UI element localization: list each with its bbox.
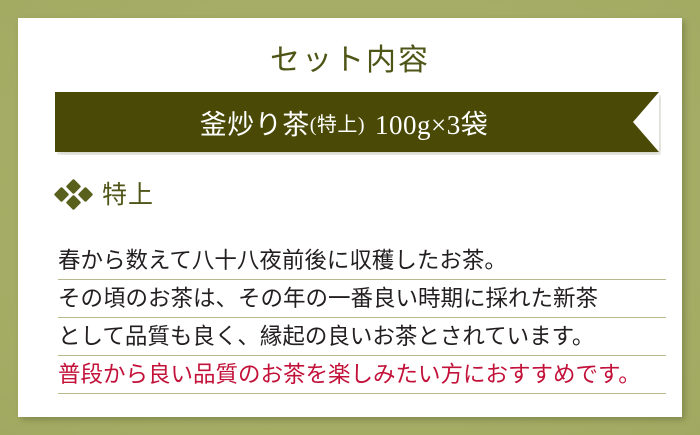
content-card: セット内容 釜炒り茶(特上)100g×3袋 特上 春から数えて八十八夜前後に収穫… <box>18 18 682 417</box>
banner-amount: 100g×3袋 <box>365 103 488 142</box>
banner-grade: (特上) <box>310 108 365 137</box>
banner-text: 釜炒り茶(特上)100g×3袋 <box>55 92 633 152</box>
section-heading: 特上 <box>55 178 154 212</box>
product-banner: 釜炒り茶(特上)100g×3袋 <box>55 92 659 152</box>
page-title: セット内容 <box>18 46 682 76</box>
description-line: 春から数えて八十八夜前後に収穫したお茶。 <box>58 242 666 280</box>
description-line: その頃のお茶は、その年の一番良い時期に採れた新茶 <box>58 280 666 318</box>
section-title: 特上 <box>102 183 154 208</box>
outer-frame: セット内容 釜炒り茶(特上)100g×3袋 特上 春から数えて八十八夜前後に収穫… <box>0 0 700 435</box>
diamond-cluster-icon <box>55 181 93 209</box>
description-line: として品質も良く、縁起の良いお茶とされています。 <box>58 318 666 356</box>
description-line-highlight: 普段から良い品質のお茶を楽しみたい方におすすめです。 <box>58 356 666 394</box>
description-list: 春から数えて八十八夜前後に収穫したお茶。 その頃のお茶は、その年の一番良い時期に… <box>58 242 666 394</box>
banner-product-name: 釜炒り茶 <box>200 103 310 142</box>
